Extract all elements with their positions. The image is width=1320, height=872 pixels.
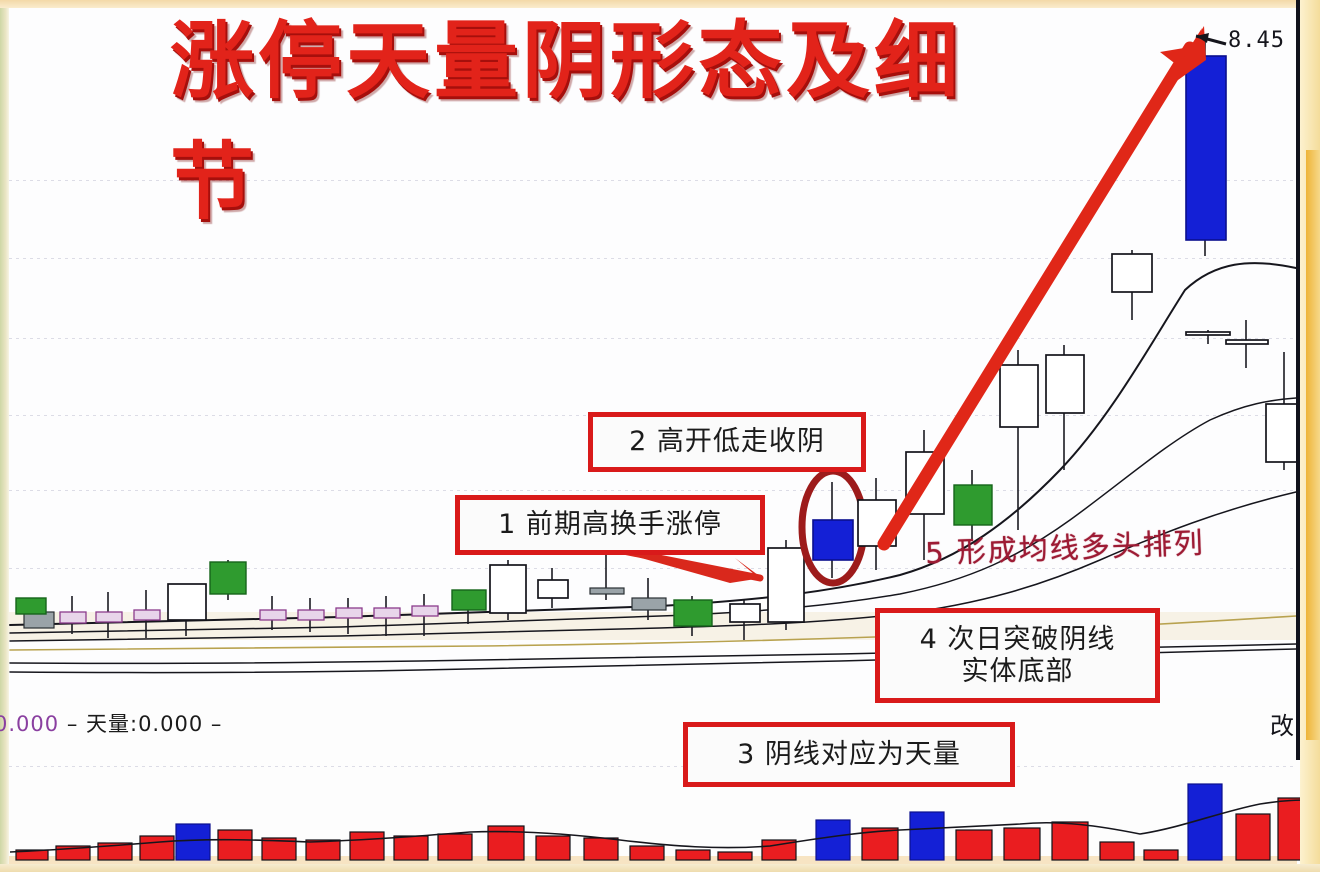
candle: [168, 584, 206, 636]
candle: [60, 596, 86, 634]
readout-label: 天量:0.000: [86, 712, 203, 736]
volume-bar: [956, 830, 992, 860]
volume-bar: [536, 836, 570, 860]
volume-bar: [816, 820, 850, 860]
volume-bar: [1100, 842, 1134, 860]
volume-bar: [910, 812, 944, 860]
candle: [260, 596, 286, 630]
volume-bar: [630, 846, 664, 860]
candle: [374, 596, 400, 636]
volume-bar: [584, 838, 618, 860]
indicator-readout: 0.000 – 天量:0.000 –: [0, 708, 222, 738]
volume-bar: [176, 824, 210, 860]
readout-left-value: 0.000: [0, 712, 59, 736]
price-axis-label: 8.45: [1228, 28, 1285, 53]
annotation-box-3: 3 阴线对应为天量: [683, 722, 1015, 787]
volume-bar: [438, 834, 472, 860]
candle: [632, 578, 666, 620]
stock-chart-screenshot: 涨停天量阴形态及细节 8.45 0.000 – 天量:0.000 – 改 1 前…: [0, 0, 1320, 872]
candle: [336, 598, 362, 634]
candle: [1046, 345, 1084, 470]
volume-bar: [394, 836, 428, 860]
candle: [730, 600, 760, 640]
paper-edge-right-gold-inner: [1306, 150, 1320, 740]
candle: [674, 596, 712, 636]
volume-bar: [718, 852, 752, 860]
volume-bar: [1144, 850, 1178, 860]
candle: [1226, 320, 1268, 368]
volume-bar: [140, 836, 174, 860]
paper-edge-bottom: [0, 864, 1320, 872]
annotation-box-4: 4 次日突破阴线 实体底部: [875, 608, 1160, 703]
corner-mark: 改: [1270, 706, 1294, 741]
volume-bar: [1004, 828, 1040, 860]
readout-dash: –: [67, 712, 79, 736]
candle: [538, 568, 568, 608]
candle: [210, 560, 246, 600]
key-candle-limit-up-bearish: [813, 482, 853, 578]
candle: [1186, 330, 1230, 344]
page-title: 涨停天量阴形态及细节: [170, 62, 1010, 167]
candle: [412, 594, 438, 636]
volume-bar: [676, 850, 710, 860]
candle: [1112, 250, 1152, 320]
candle-group-right: [858, 250, 1306, 570]
candle: [590, 550, 624, 600]
annotation-4-line-1: 4 次日突破阴线: [920, 624, 1116, 656]
volume-bar: [1236, 814, 1270, 860]
candle: [16, 598, 46, 614]
candle: [768, 540, 804, 630]
volume-bar: [350, 832, 384, 860]
volume-bar: [1052, 822, 1088, 860]
annotation-box-1: 1 前期高换手涨停: [455, 495, 765, 555]
annotation-box-2: 2 高开低走收阴: [588, 412, 866, 472]
volume-bar: [218, 830, 252, 860]
candle: [1000, 350, 1038, 530]
annotation-4-line-2: 实体底部: [962, 656, 1074, 688]
volume-bar: [306, 840, 340, 860]
candle: [490, 560, 526, 620]
candle: [452, 590, 486, 624]
readout-dash-2: –: [211, 712, 223, 736]
tall-blue-candle: [1186, 38, 1226, 256]
volume-bars: [10, 784, 1312, 860]
